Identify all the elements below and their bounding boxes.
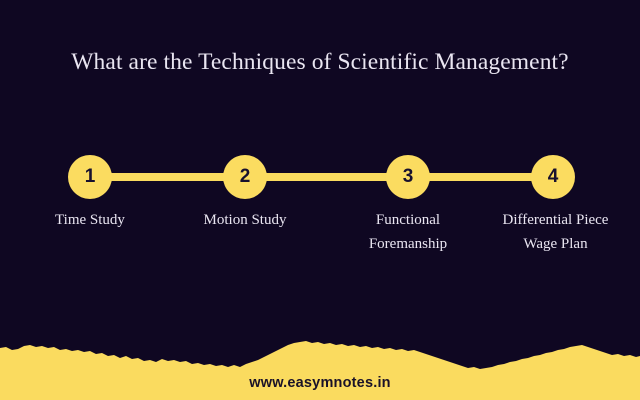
step-label-2-line-1: Motion Study xyxy=(175,208,315,232)
step-label-3: Functional Foremanship xyxy=(333,208,483,256)
page-title: What are the Techniques of Scientific Ma… xyxy=(0,49,640,76)
step-label-4-line-1: Differential Piece xyxy=(478,208,633,232)
step-label-4-line-2: Wage Plan xyxy=(478,232,633,256)
timeline: 1 2 3 4 xyxy=(0,143,640,213)
infographic-poster: What are the Techniques of Scientific Ma… xyxy=(0,0,640,400)
step-label-3-line-1: Functional xyxy=(333,208,483,232)
step-label-1: Time Study xyxy=(20,208,160,232)
timeline-node-3[interactable]: 3 xyxy=(386,155,430,199)
timeline-node-4[interactable]: 4 xyxy=(531,155,575,199)
footer-website-url[interactable]: www.easymnotes.in xyxy=(0,375,640,391)
step-label-4: Differential Piece Wage Plan xyxy=(478,208,633,256)
timeline-node-2[interactable]: 2 xyxy=(223,155,267,199)
step-label-3-line-2: Foremanship xyxy=(333,232,483,256)
footer-band: www.easymnotes.in xyxy=(0,334,640,400)
step-label-2: Motion Study xyxy=(175,208,315,232)
timeline-track xyxy=(90,173,553,181)
step-label-1-line-1: Time Study xyxy=(20,208,160,232)
timeline-node-1[interactable]: 1 xyxy=(68,155,112,199)
